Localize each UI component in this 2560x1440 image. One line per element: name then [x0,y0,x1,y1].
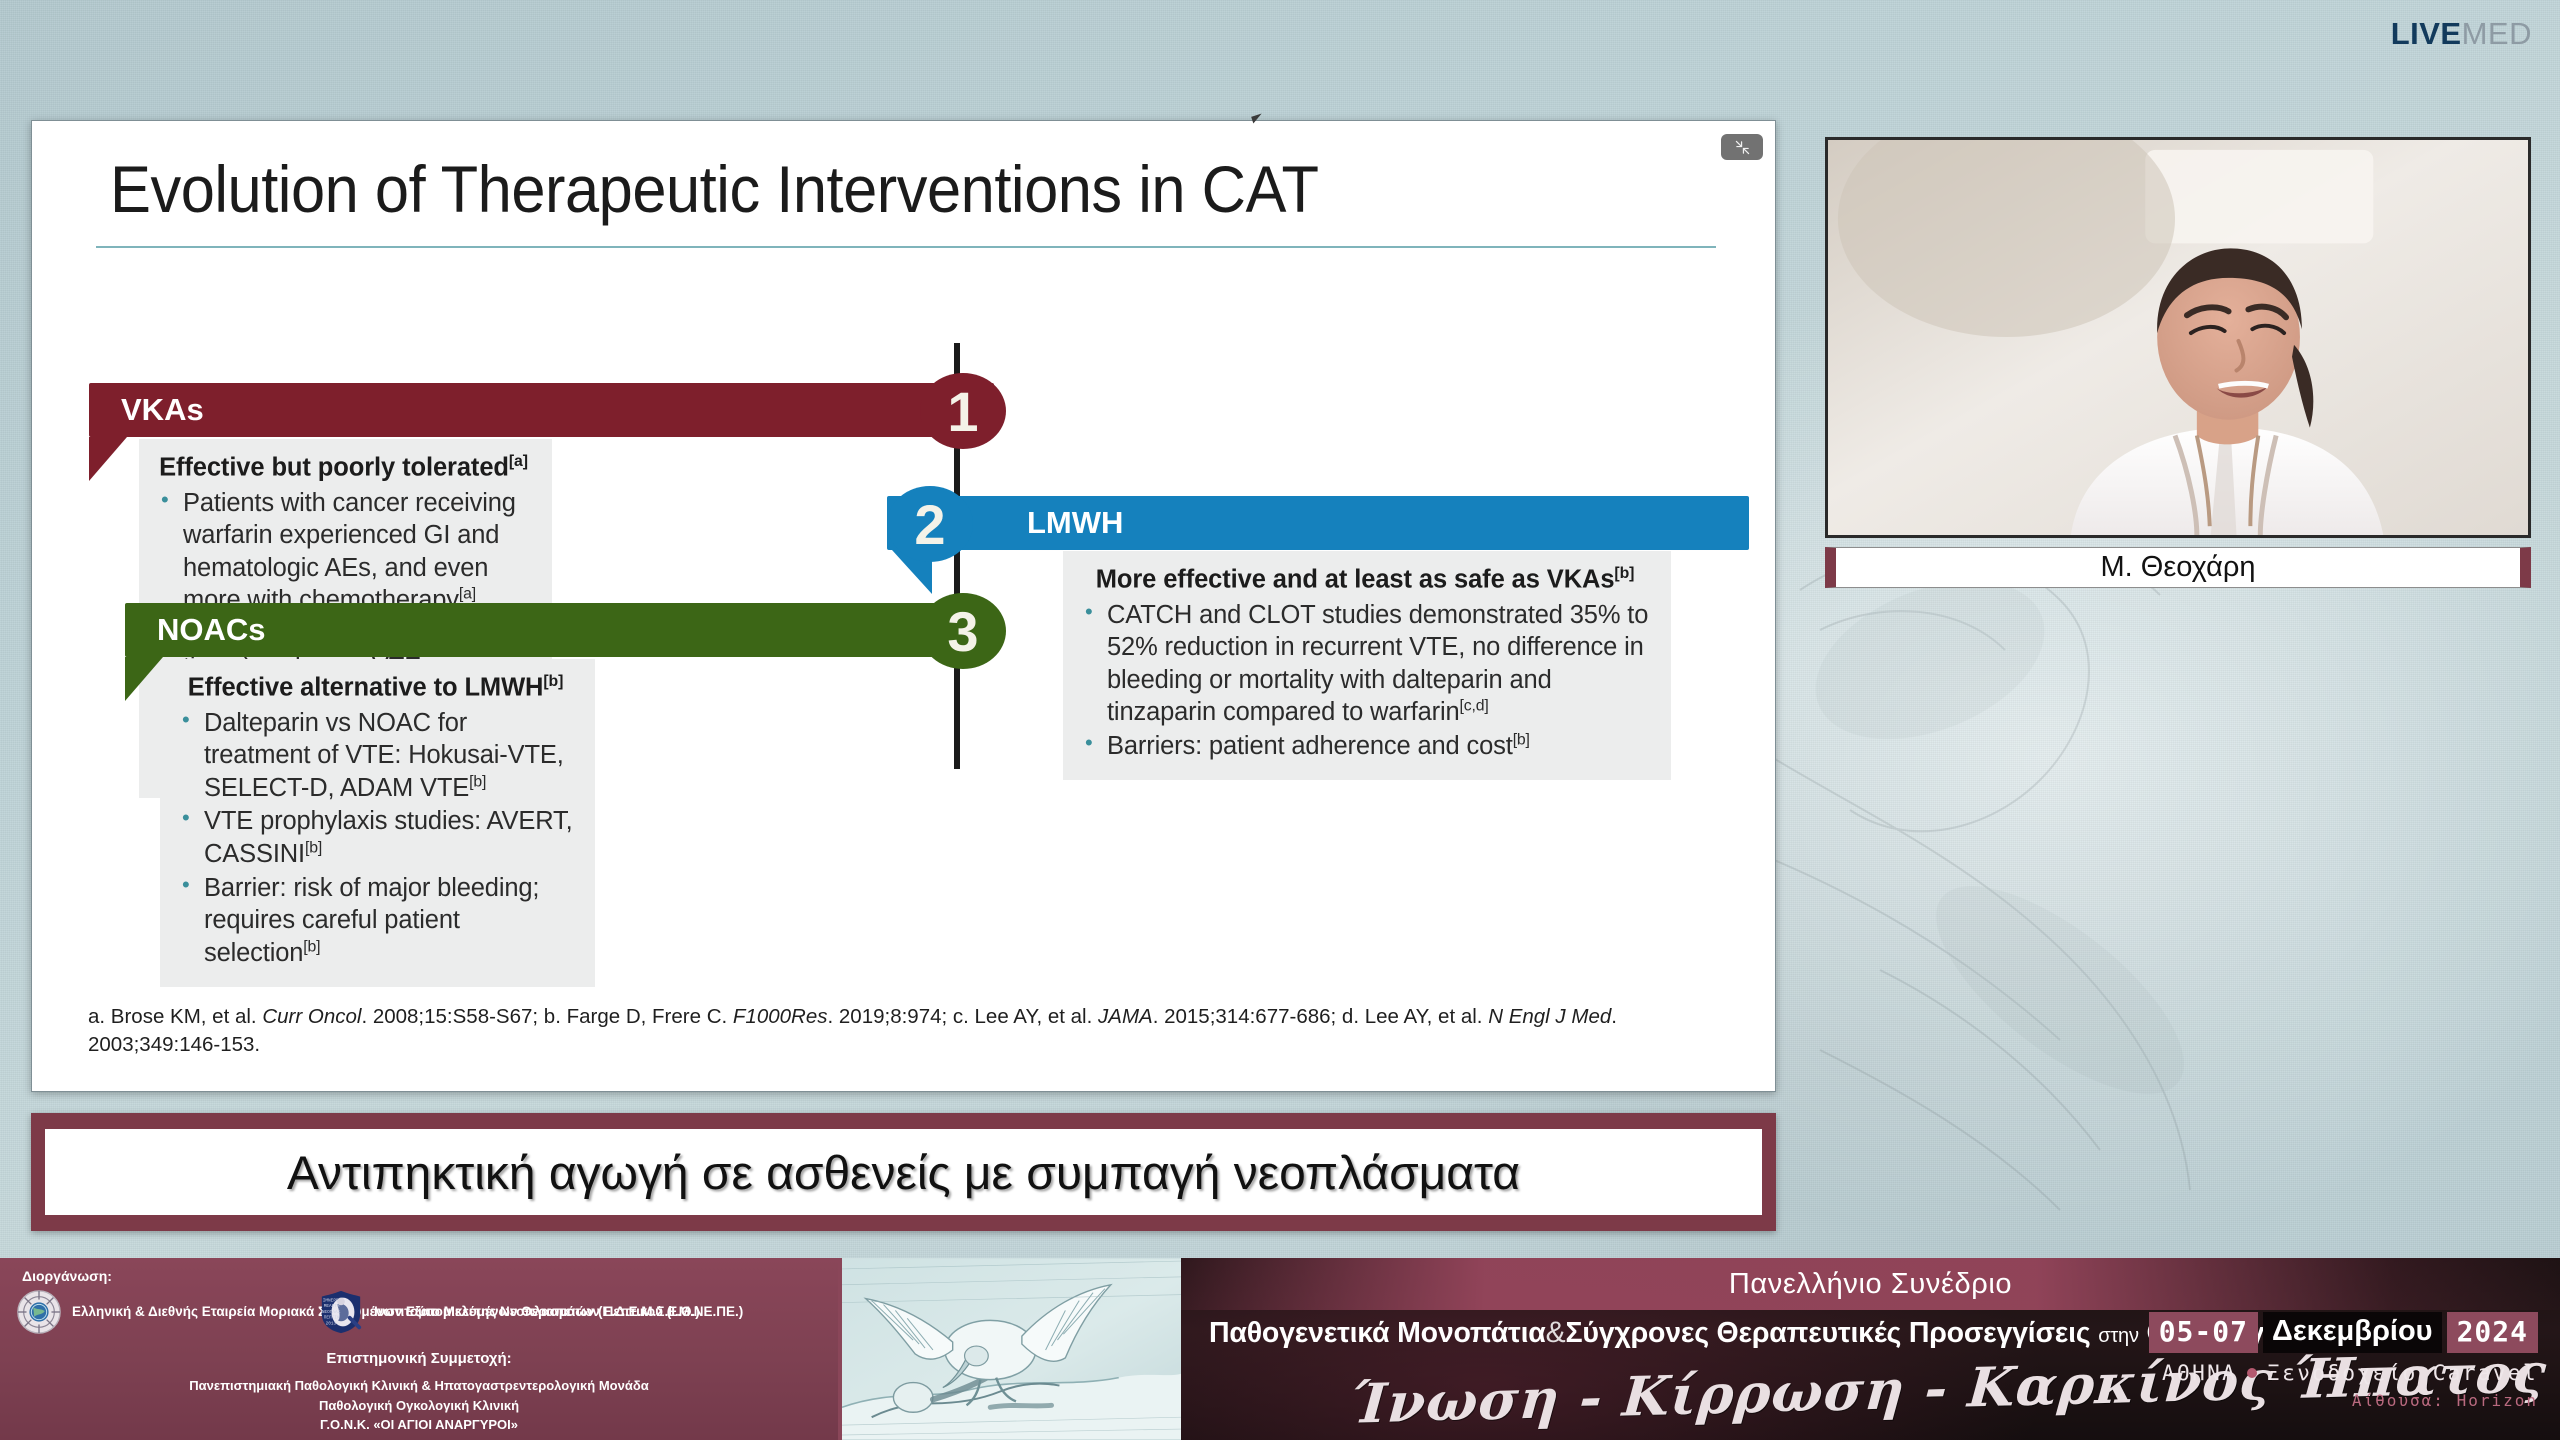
venue-name: Ξενοδοχείο Caravel [2267,1361,2538,1385]
timeline-node-2: 2 [887,486,973,562]
vka-heading: Effective but poorly tolerated[a] [157,453,530,483]
prometheus-eagle-engraving [842,1258,1181,1440]
timeline-node-3: 3 [920,593,1006,669]
svg-text:NEOΠΛΑΣ: NEOΠΛΑΣ [322,1310,341,1315]
vka-banner: VKAs [89,383,994,437]
collapse-arrows-icon [1735,140,1750,155]
list-item: Patients with cancer receiving warfarin … [157,487,530,618]
speaker-name-plate: Μ. Θεοχάρη [1825,547,2531,588]
speaker-name: Μ. Θεοχάρη [2101,551,2256,584]
conference-subtitle-part2: Σύγχρονες Θεραπευτικές Προσεγγίσεις [1565,1317,2090,1349]
date-month-label: Δεκεμβρίου [2263,1312,2442,1353]
screen: LIVEMED Evolution of Therapeutic Interve… [0,0,2560,1440]
date-year-chip: 2024 [2447,1312,2538,1353]
slide-title: Evolution of Therapeutic Interventions i… [110,151,1598,227]
venue-hall: Αίθουσα: Horizon [2149,1391,2538,1410]
timeline-node-1-number: 1 [947,379,978,444]
scientific-participation-lines: Πανεπιστημιακή Παθολογική Κλινική & Ηπατ… [0,1376,838,1435]
footer-organizers: Διοργάνωση: Ελληνική & Διεθνής Εταιρε [0,1258,838,1440]
conference-subtitle-part1: Παθογενετικά Μονοπάτια [1209,1317,1546,1349]
speaker-figure [1828,140,2528,535]
logo-live-text: LIVE [2391,16,2462,51]
noac-bullet-list: Dalteparin vs NOAC for treatment of VTE:… [178,707,573,970]
svg-text:2013: 2013 [326,1321,337,1326]
scientific-line: Παθολογική Ογκολογική Κλινική [0,1396,838,1416]
conference-subtitle-part3: στην [2098,1325,2139,1347]
scientific-line: Πανεπιστημιακή Παθολογική Κλινική & Ηπατ… [0,1376,838,1396]
timeline-node-2-number: 2 [914,492,945,557]
footer-artwork [838,1258,1181,1440]
vka-banner-label: VKAs [121,392,204,428]
presentation-slide[interactable]: Evolution of Therapeutic Interventions i… [31,120,1776,1092]
collapse-fullscreen-button[interactable] [1721,134,1763,160]
organizer-2-name: Ινστιτούτο Μελέτης Νεοπλασμάτων Πεπτικού… [374,1302,743,1322]
scientific-line: Γ.Ο.Ν.Κ. «ΟΙ ΑΓΙΟΙ ΑΝΑΡΓΥΡΟΙ» [0,1415,838,1435]
footer-conference-info: Πανελλήνιο Συνέδριο Παθογενετικά Μονοπάτ… [1181,1258,2560,1440]
venue-city: ΑΘΗΝΑ [2162,1361,2237,1385]
organizer-2: IMNEPE MEAETH NEOΠΛΑΣ ΠΕΠΤΙΚ 2013 Ινστιτ… [318,1289,743,1335]
venue-row: ΑΘΗΝΑ Ξενοδοχείο Caravel [2149,1361,2538,1385]
conference-footer: Διοργάνωση: Ελληνική & Διεθνής Εταιρε [0,1258,2560,1440]
noac-banner-label: NOACs [157,612,266,648]
livemed-logo: LIVEMED [2391,16,2532,52]
noac-banner-notch [125,657,163,701]
list-item: CATCH and CLOT studies demonstrated 35% … [1081,599,1649,730]
speaker-video[interactable] [1825,137,2531,538]
organizer-label: Διοργάνωση: [22,1268,112,1284]
svg-text:ΠΕΠΤΙΚ: ΠΕΠΤΙΚ [324,1316,340,1321]
list-item: Barrier: risk of major bleeding; require… [178,872,573,970]
imnepe-shield-logo: IMNEPE MEAETH NEOΠΛΑΣ ΠΕΠΤΙΚ 2013 [318,1289,364,1335]
lmwh-banner: LMWH [887,496,1749,550]
list-item: Barriers: patient adherence and cost[b] [1081,730,1649,763]
list-item: Dalteparin vs NOAC for treatment of VTE:… [178,707,573,805]
svg-text:IMNEPE: IMNEPE [323,1298,339,1303]
noac-banner: NOACs [125,603,993,657]
session-title-bar: Αντιπηκτική αγωγή σε ασθενείς με συμπαγή… [31,1113,1776,1231]
title-underline [96,246,1716,248]
timeline-node-1: 1 [920,373,1006,449]
timeline-node-3-number: 3 [947,599,978,664]
slide-references: a. Brose KM, et al. Curr Oncol. 2008;15:… [88,1003,1718,1058]
venue-separator-dot [2247,1368,2257,1378]
svg-text:MEAETH: MEAETH [324,1304,340,1309]
logo-med-text: MED [2462,16,2532,51]
noac-textbox: Effective alternative to LMWH[b] Daltepa… [160,659,595,987]
noac-heading: Effective alternative to LMWH[b] [178,673,573,703]
lmwh-heading: More effective and at least as safe as V… [1081,565,1649,595]
conference-banner-title: Πανελλήνιο Συνέδριο [1729,1268,2012,1301]
scientific-participation-label: Επιστημονική Συμμετοχή: [0,1350,838,1367]
conference-date-block: 05-07 Δεκεμβρίου 2024 ΑΘΗΝΑ Ξενοδοχείο C… [2149,1312,2538,1410]
lmwh-textbox: More effective and at least as safe as V… [1063,551,1671,780]
session-title-text: Αντιπηκτική αγωγή σε ασθενείς με συμπαγή… [287,1145,1520,1200]
conference-banner: Πανελλήνιο Συνέδριο [1181,1258,2560,1310]
speaker-panel[interactable]: Μ. Θεοχάρη [1825,137,2531,588]
list-item: VTE prophylaxis studies: AVERT, CASSINI[… [178,805,573,870]
conference-subtitle: Παθογενετικά Μονοπάτια&Σύγχρονες Θεραπευ… [1209,1316,2289,1350]
lmwh-bullet-list: CATCH and CLOT studies demonstrated 35% … [1081,599,1649,763]
edemseth-globe-logo [16,1289,62,1335]
vka-banner-notch [89,437,127,481]
date-range-chip: 05-07 [2149,1312,2258,1353]
lmwh-banner-label: LMWH [1027,505,1123,541]
conference-subtitle-ampersand: & [1546,1316,1566,1349]
